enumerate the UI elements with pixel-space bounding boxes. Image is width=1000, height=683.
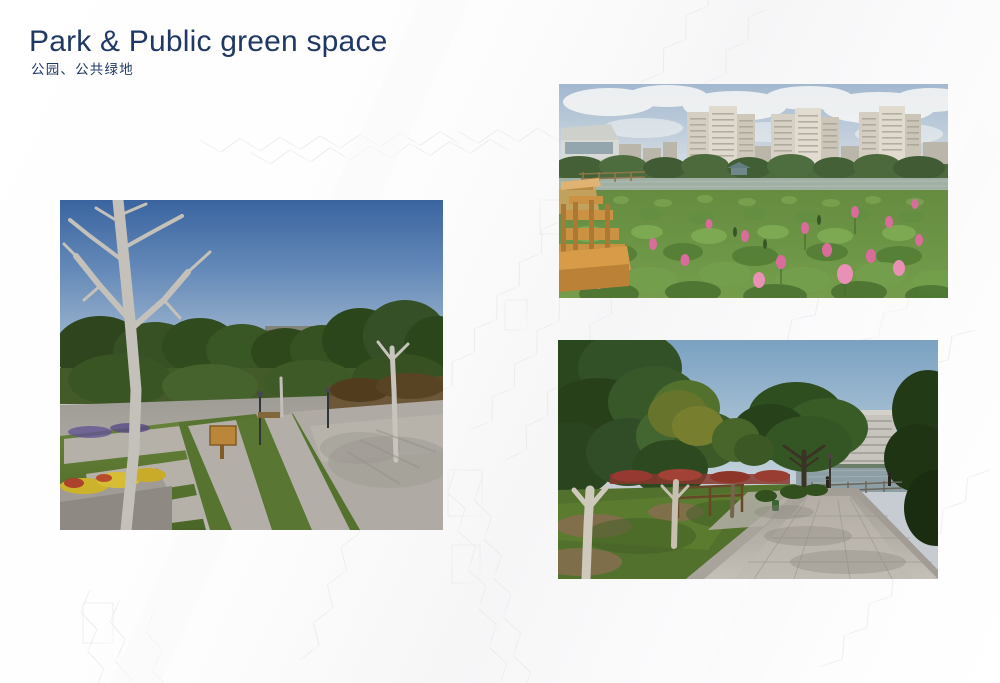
park-plaza-photo — [60, 200, 443, 530]
page-title: Park & Public green space — [29, 26, 388, 58]
lakeside-path-photo — [558, 340, 938, 579]
page-subtitle: 公园、公共绿地 — [31, 63, 388, 78]
title-block: Park & Public green space 公园、公共绿地 — [29, 26, 388, 78]
lotus-pond-photo — [559, 84, 948, 298]
presentation-slide: Park & Public green space 公园、公共绿地 — [0, 0, 1000, 683]
